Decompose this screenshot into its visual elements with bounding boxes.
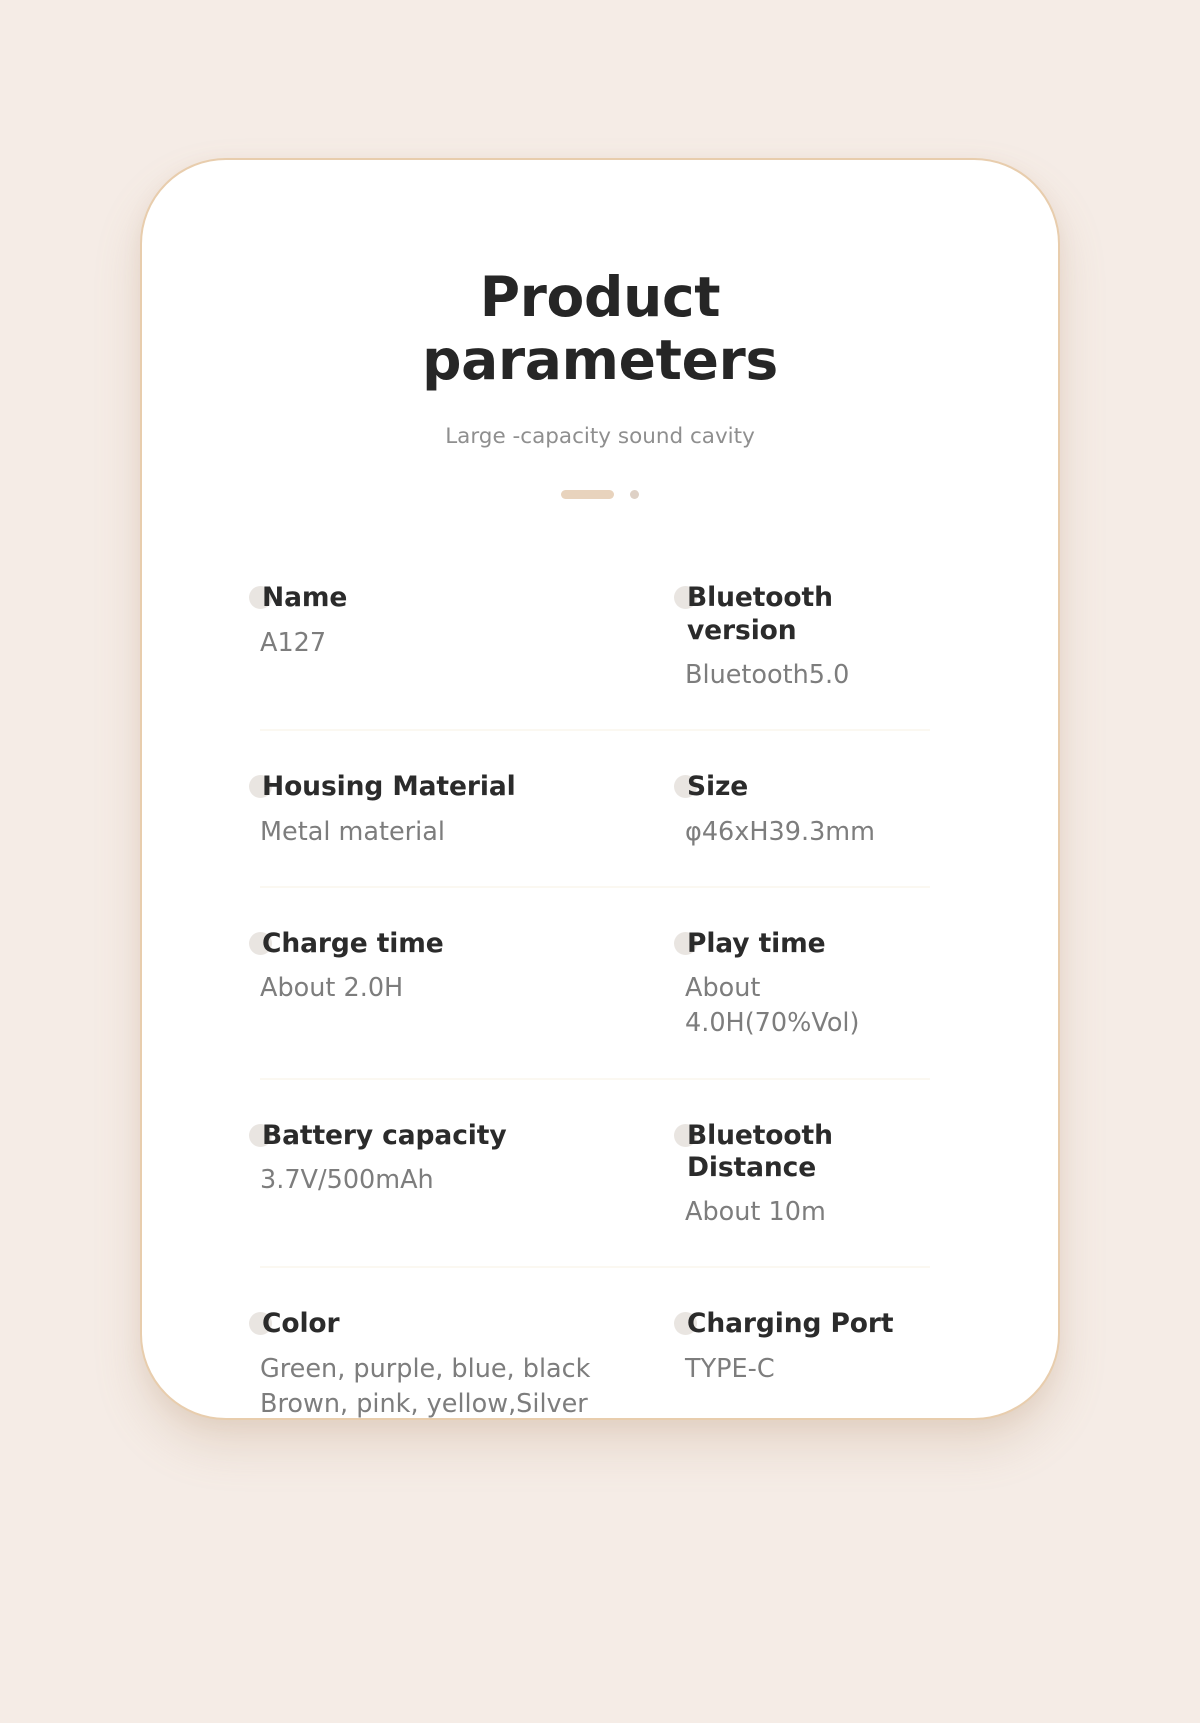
spec-cell-charge-time: Charge time About 2.0H (260, 928, 685, 1042)
spec-label: Play time (687, 928, 826, 959)
divider-ornament (260, 450, 940, 500)
spec-label: Size (687, 771, 748, 802)
spec-value: Green, purple, blue, black Brown, pink, … (260, 1352, 685, 1422)
spec-cell-battery-capacity: Battery capacity 3.7V/500mAh (260, 1120, 685, 1231)
spec-value: Metal material (260, 815, 685, 850)
product-parameters-card: Product parameters Large -capacity sound… (140, 158, 1060, 1420)
spec-label-wrap: Charging Port (685, 1308, 893, 1340)
spec-value: About 10m (685, 1195, 940, 1230)
spec-label-wrap: Battery capacity (260, 1120, 507, 1152)
card-content: Product parameters Large -capacity sound… (142, 160, 1058, 1418)
spec-label-wrap: Color (260, 1308, 340, 1340)
spec-label: Color (262, 1308, 340, 1339)
spec-value: 3.7V/500mAh (260, 1163, 685, 1198)
spec-label: Bluetooth Distance (687, 1120, 833, 1183)
spec-value: TYPE-C (685, 1352, 940, 1387)
spec-label: Bluetooth version (687, 582, 833, 645)
spec-value: Bluetooth5.0 (685, 658, 940, 693)
spec-value: φ46xH39.3mm (685, 815, 940, 850)
table-row: Color Green, purple, blue, black Brown, … (260, 1268, 940, 1460)
spec-label-wrap: Name (260, 582, 347, 614)
table-row: Housing Material Metal material Size φ46… (260, 731, 940, 888)
spec-table: Name A127 Bluetooth version Bluetooth5.0 (260, 566, 940, 1460)
table-row: Charge time About 2.0H Play time About 4… (260, 888, 940, 1080)
spec-label: Charging Port (687, 1308, 893, 1339)
table-row: Battery capacity 3.7V/500mAh Bluetooth D… (260, 1080, 940, 1269)
spec-label-wrap: Bluetooth Distance (685, 1120, 940, 1185)
spec-label-wrap: Charge time (260, 928, 444, 960)
spec-value: A127 (260, 626, 685, 661)
divider-bar-icon (561, 490, 614, 499)
spec-cell-name: Name A127 (260, 582, 685, 693)
spec-cell-bluetooth-version: Bluetooth version Bluetooth5.0 (685, 582, 940, 693)
spec-value: About 4.0H(70%Vol) (685, 971, 940, 1041)
table-row: Name A127 Bluetooth version Bluetooth5.0 (260, 566, 940, 731)
spec-cell-play-time: Play time About 4.0H(70%Vol) (685, 928, 940, 1042)
spec-label-wrap: Play time (685, 928, 826, 960)
spec-cell-housing-material: Housing Material Metal material (260, 771, 685, 850)
spec-cell-bluetooth-distance: Bluetooth Distance About 10m (685, 1120, 940, 1231)
spec-cell-size: Size φ46xH39.3mm (685, 771, 940, 850)
product-parameters-page: Product parameters Large -capacity sound… (0, 0, 1200, 1723)
spec-value: About 2.0H (260, 971, 685, 1006)
page-subtitle: Large -capacity sound cavity (260, 393, 940, 451)
spec-label: Battery capacity (262, 1120, 507, 1151)
spec-label-wrap: Size (685, 771, 748, 803)
spec-cell-color: Color Green, purple, blue, black Brown, … (260, 1308, 685, 1422)
spec-label: Housing Material (262, 771, 516, 802)
spec-cell-charging-port: Charging Port TYPE-C (685, 1308, 940, 1422)
divider-dot-icon (630, 490, 639, 499)
spec-label: Charge time (262, 928, 444, 959)
spec-label-wrap: Bluetooth version (685, 582, 940, 647)
spec-label-wrap: Housing Material (260, 771, 516, 803)
page-title: Product parameters (260, 160, 940, 393)
spec-label: Name (262, 582, 347, 613)
